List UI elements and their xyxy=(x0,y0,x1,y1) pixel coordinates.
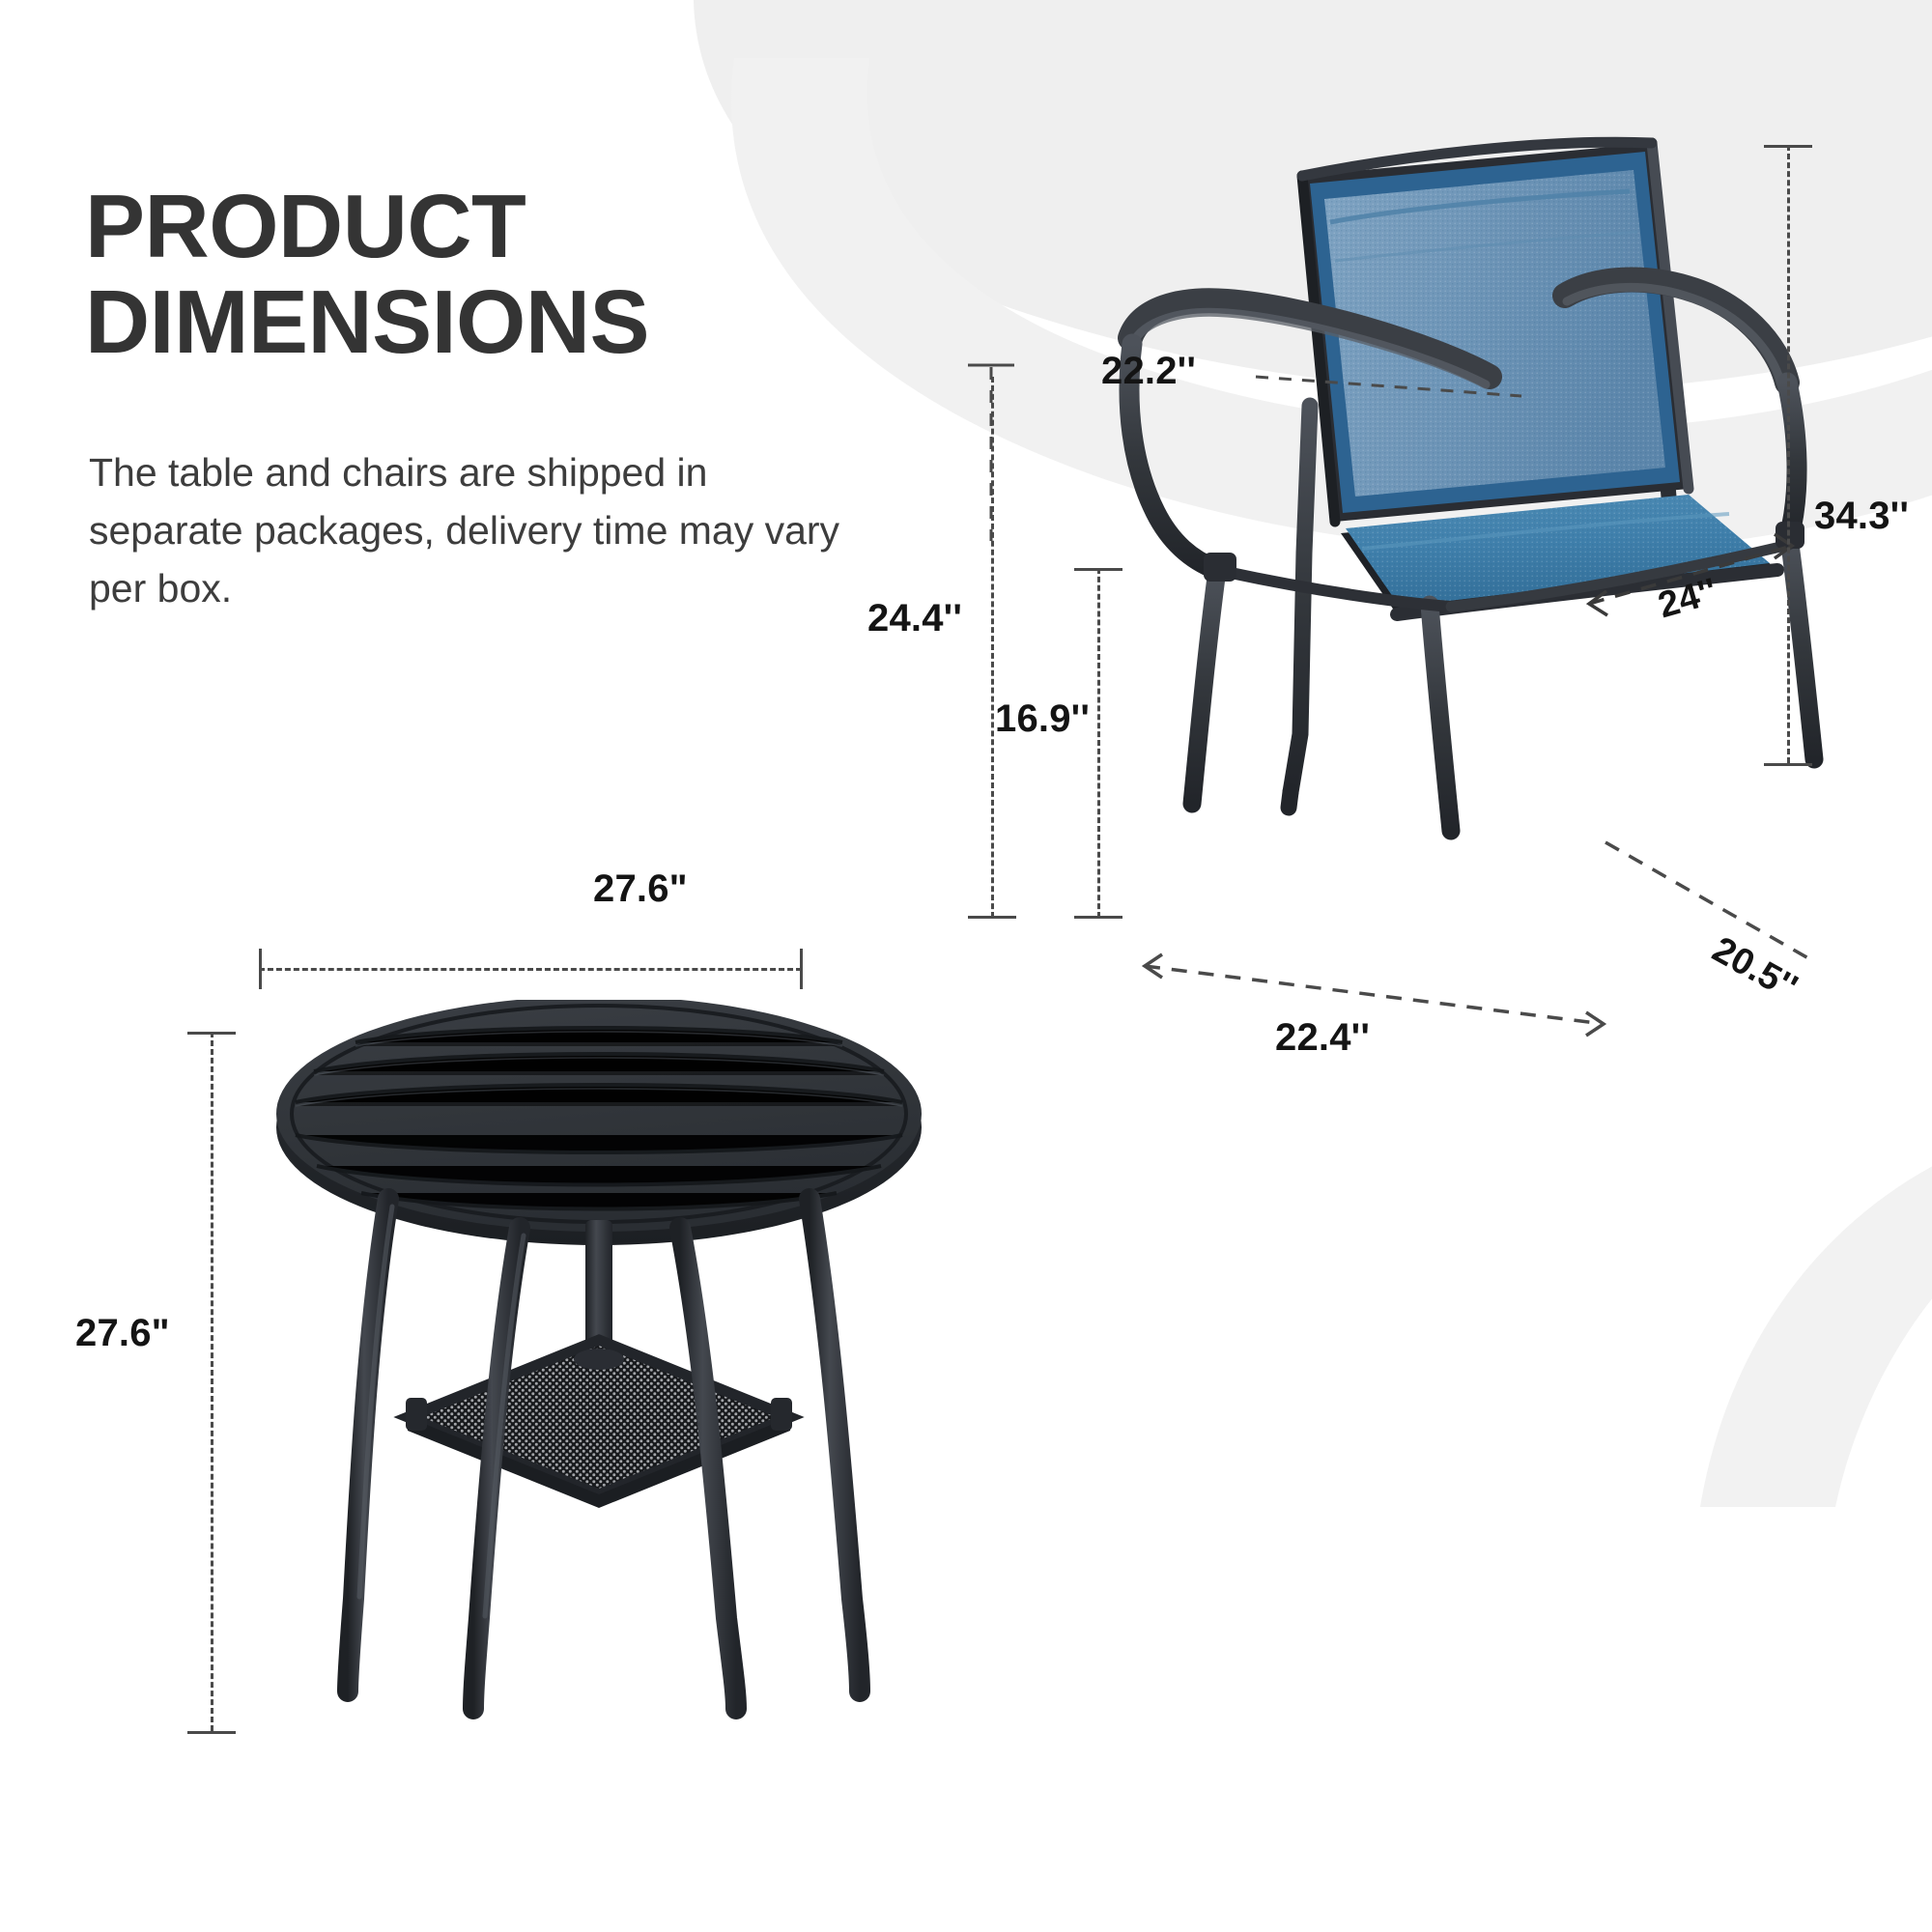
dimension-cap-table-diameter-left xyxy=(259,949,262,989)
dimension-line-chair-seat-height xyxy=(1097,568,1100,918)
dimension-cap-chair-seat-height-bottom xyxy=(1074,916,1122,919)
table-illustration xyxy=(261,1000,937,1734)
chair-graphic xyxy=(1111,116,1826,918)
dimension-cap-chair-height-bottom xyxy=(1764,763,1812,766)
dimension-line-chair-back-height xyxy=(991,377,994,918)
dimension-label-chair-back-height: 24.4'' xyxy=(867,597,962,640)
dimension-cap-table-diameter-right xyxy=(800,949,803,989)
dimension-line-table-height xyxy=(211,1032,213,1731)
dimension-label-table-diameter: 27.6" xyxy=(593,867,688,911)
dimension-cap-table-height-bottom xyxy=(187,1731,236,1734)
dimension-cap-table-height-top xyxy=(187,1032,236,1035)
dimension-cap-chair-seat-height-top xyxy=(1074,568,1122,571)
dimension-line-chair-total-height xyxy=(1787,145,1790,763)
dimension-label-chair-seat-height: 16.9'' xyxy=(995,697,1090,741)
dimension-line-table-diameter xyxy=(259,968,802,971)
dimension-cap-chair-back-height-bottom xyxy=(968,916,1016,919)
page-title-line-2: DIMENSIONS xyxy=(85,274,974,370)
dimension-cap-chair-height-top xyxy=(1764,145,1812,148)
page-title: PRODUCT DIMENSIONS xyxy=(85,179,974,369)
dimension-label-chair-total-height: 34.3'' xyxy=(1814,495,1909,538)
page-subtitle: The table and chairs are shipped in sepa… xyxy=(89,444,862,618)
dimension-label-chair-seat-width: 22.2'' xyxy=(1101,350,1196,393)
dimension-label-chair-front-width: 22.4'' xyxy=(1275,1016,1370,1060)
infographic-canvas: PRODUCT DIMENSIONS The table and chairs … xyxy=(0,0,1932,1932)
table-graphic xyxy=(261,1000,937,1734)
page-title-line-1: PRODUCT xyxy=(85,176,526,276)
chair-illustration xyxy=(1111,116,1826,918)
dimension-label-table-height: 27.6" xyxy=(75,1312,170,1355)
